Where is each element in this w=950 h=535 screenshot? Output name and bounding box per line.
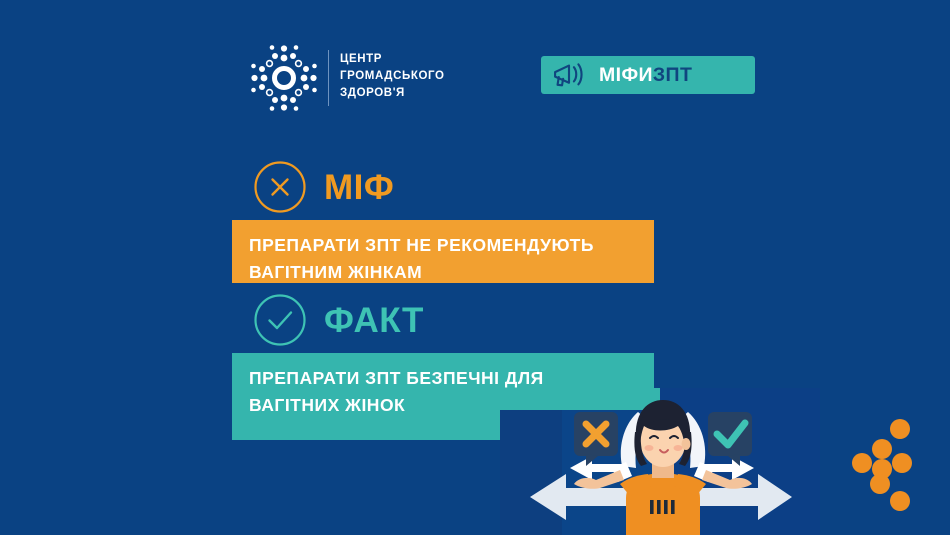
badge-label: МІФИЗПТ [599, 64, 692, 87]
myth-statement-line-2: ВАГІТНИМ ЖІНКАМ [249, 259, 638, 286]
logo-divider [328, 50, 329, 106]
organization-name: ЦЕНТР ГРОМАДСЬКОГО ЗДОРОВ'Я [340, 51, 445, 102]
myth-heading: МІФ [253, 160, 394, 214]
megaphone-icon [551, 60, 587, 90]
organization-logo: ЦЕНТР ГРОМАДСЬКОГО ЗДОРОВ'Я [248, 42, 448, 116]
shrugging-woman-illustration [500, 388, 820, 535]
myths-zpt-badge[interactable]: МІФИЗПТ [541, 56, 755, 94]
badge-text-white: МІФИ [599, 64, 653, 86]
fact-label: ФАКТ [324, 303, 424, 338]
badge-text-blue: ЗПТ [653, 64, 692, 86]
fact-heading: ФАКТ [253, 293, 424, 347]
myth-statement-box: ПРЕПАРАТИ ЗПТ НЕ РЕКОМЕНДУЮТЬ ВАГІТНИМ Ж… [232, 220, 654, 283]
logo-line-1: ЦЕНТР [340, 51, 445, 68]
x-circle-icon [253, 160, 307, 214]
orange-dot-pattern [846, 418, 928, 512]
myth-label: МІФ [324, 170, 394, 205]
myth-statement-line-1: ПРЕПАРАТИ ЗПТ НЕ РЕКОМЕНДУЮТЬ [249, 232, 638, 259]
check-circle-icon [253, 293, 307, 347]
poster-canvas: ЦЕНТР ГРОМАДСЬКОГО ЗДОРОВ'Я МІФИЗПТ МІФ … [0, 0, 950, 535]
logo-line-2: ГРОМАДСЬКОГО [340, 68, 445, 85]
phc-dot-diamond-logo-icon [248, 42, 320, 114]
logo-line-3: ЗДОРОВ'Я [340, 85, 445, 102]
